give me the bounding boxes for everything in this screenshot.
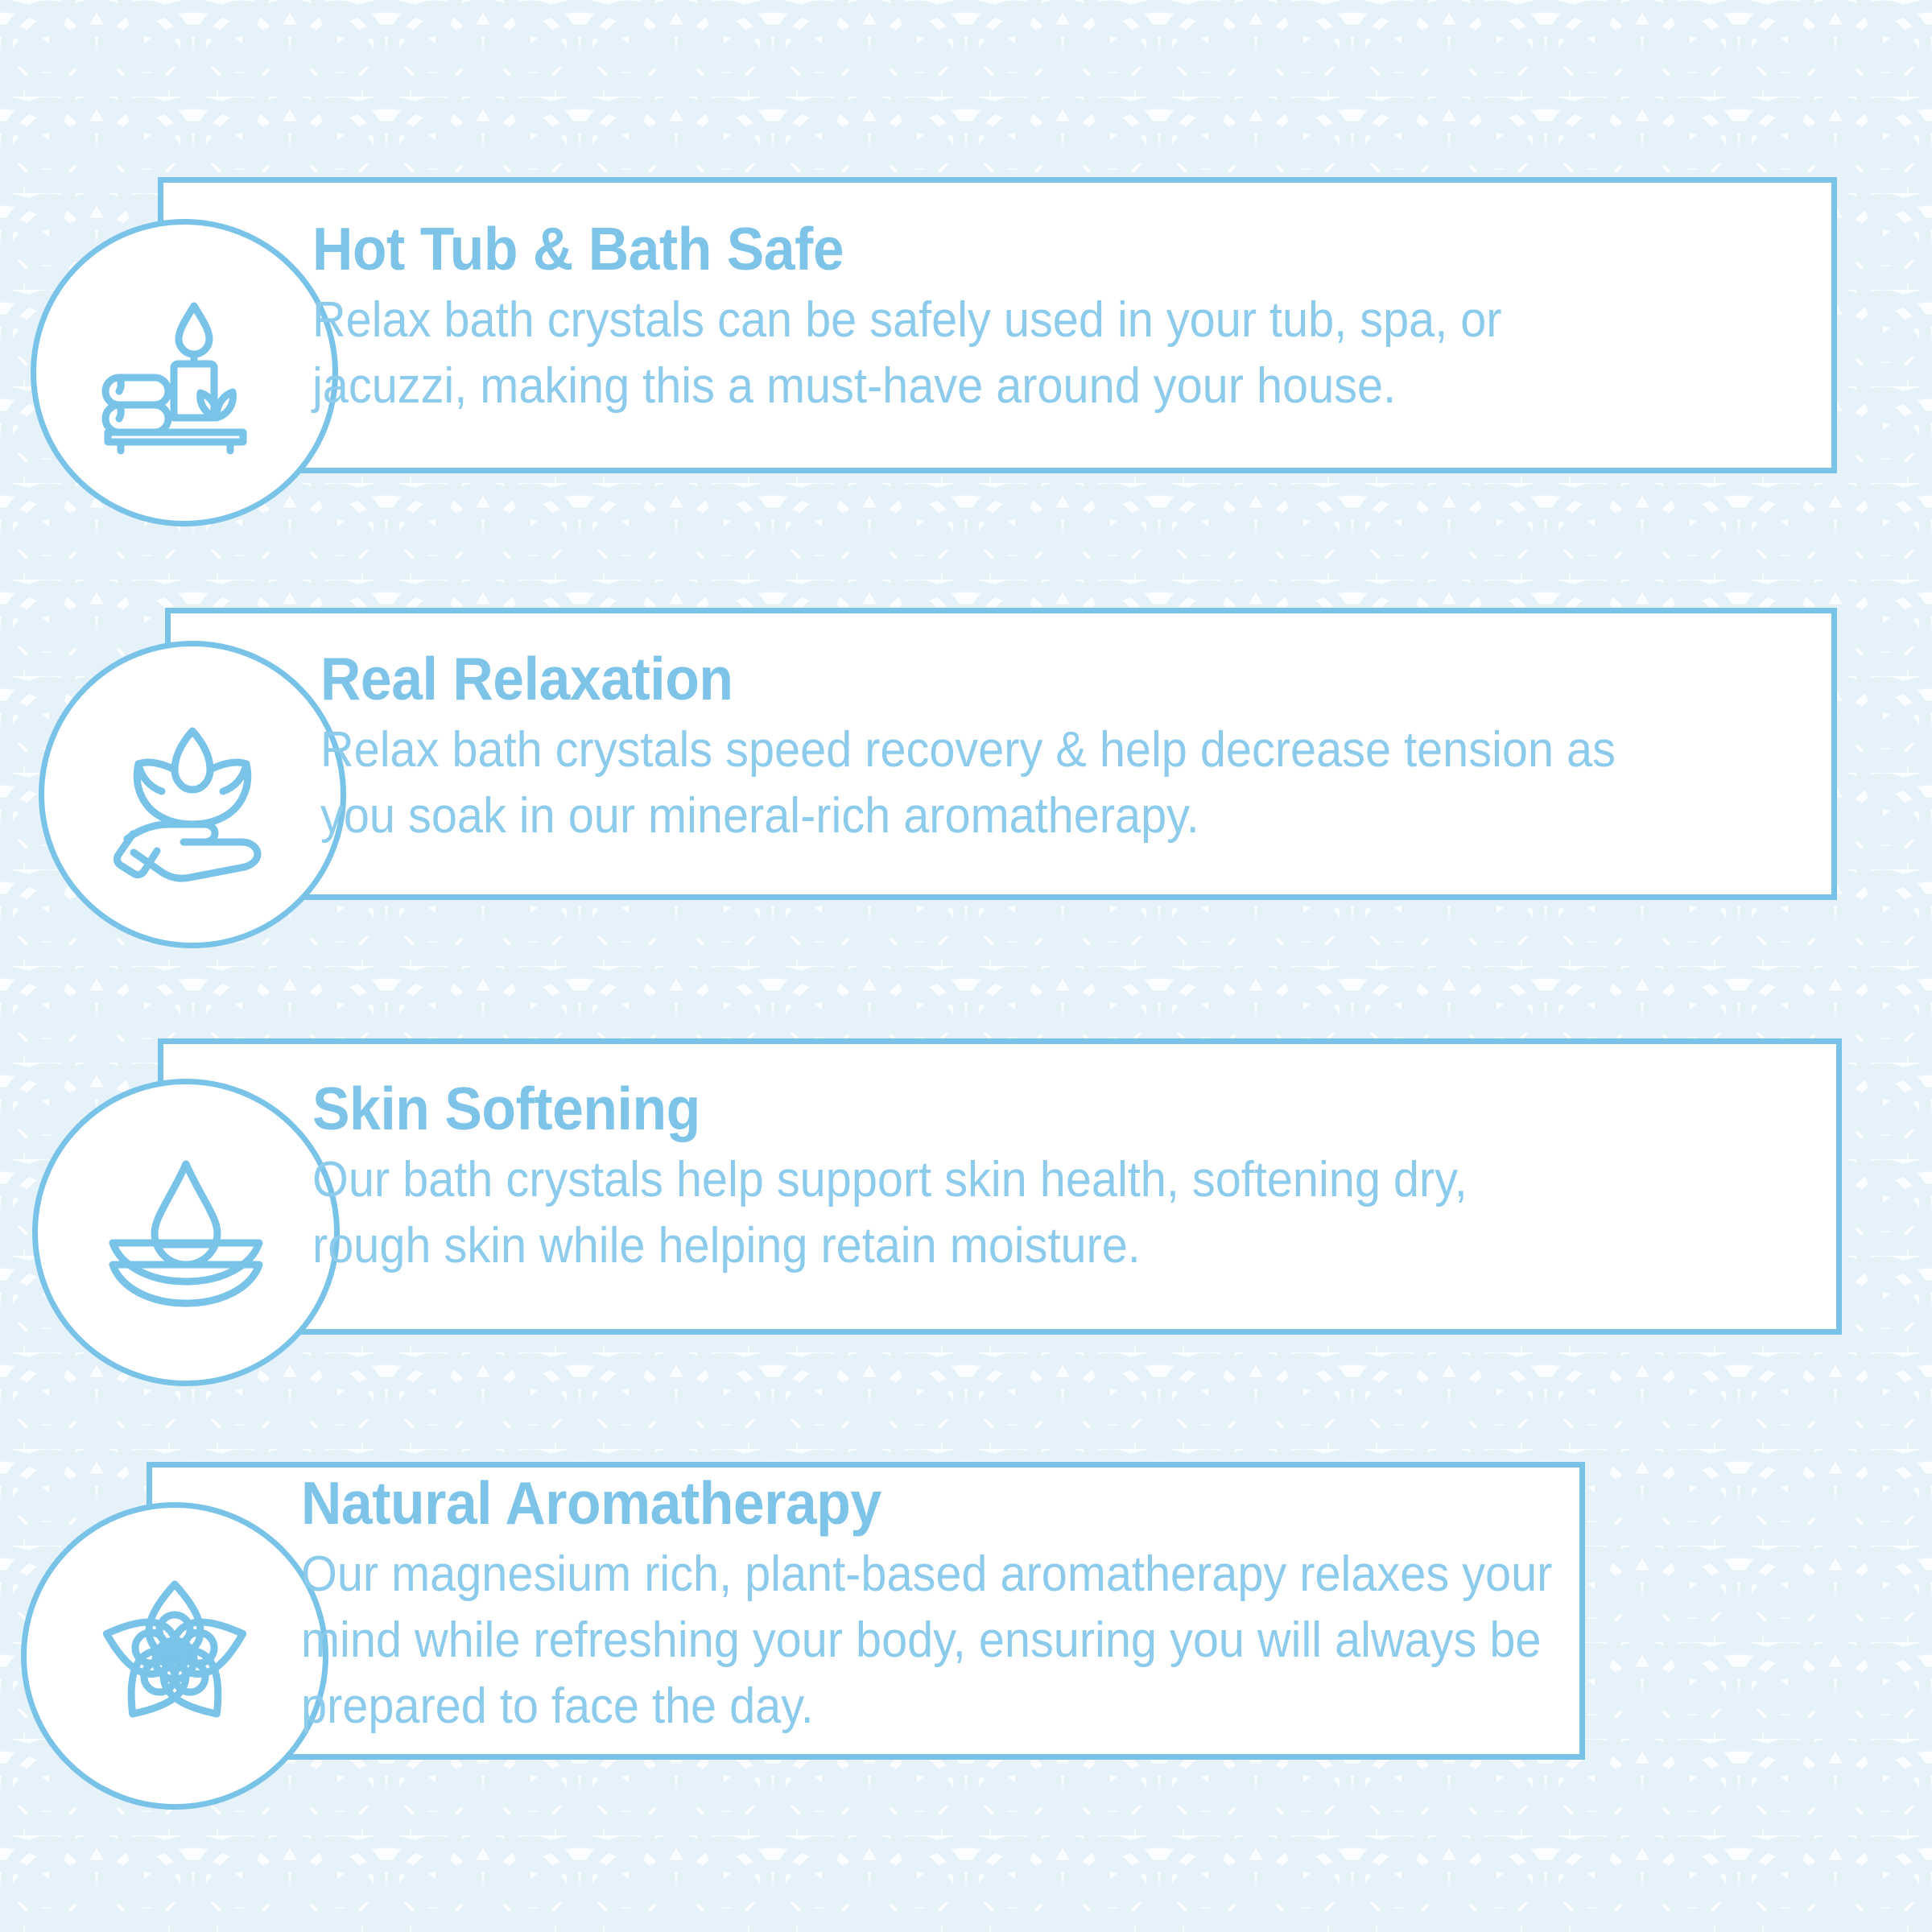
feature-description-line: Relax bath crystals can be safely used i… [312,287,1675,353]
feature-title: Skin Softening [312,1079,1690,1139]
feature-title: Hot Tub & Bath Safe [312,219,1675,279]
feature-text-block: Hot Tub & Bath Safe Relax bath crystals … [312,219,1777,419]
feature-description: Our magnesium rich, plant-based aromathe… [301,1542,1469,1739]
feature-description-line: prepared to face the day. [301,1674,1469,1740]
feature-description: Relax bath crystals can be safely used i… [312,287,1675,419]
flower-blossom-icon [90,1571,259,1740]
feature-description: Our bath crystals help support skin heal… [312,1147,1690,1279]
candle-towels-spa-icon [100,288,269,457]
feature-icon-candle-towels [31,219,338,526]
feature-description-line: mind while refreshing your body, ensurin… [301,1608,1469,1674]
infographic-page: Hot Tub & Bath Safe Relax bath crystals … [0,0,1932,1932]
feature-text-block: Real Relaxation Relax bath crystals spee… [320,649,1794,849]
feature-description-line: you soak in our mineral-rich aromatherap… [320,783,1690,849]
feature-icon-droplet-bowl [32,1079,340,1386]
feature-description: Relax bath crystals speed recovery & hel… [320,717,1690,849]
feature-description-line: rough skin while helping retain moisture… [312,1213,1690,1279]
feature-description-line: Our bath crystals help support skin heal… [312,1147,1690,1213]
feature-description-line: Our magnesium rich, plant-based aromathe… [301,1542,1469,1608]
feature-icon-hand-lotus [39,641,346,948]
hand-holding-lotus-icon [108,710,277,879]
feature-title: Natural Aromatherapy [301,1473,1469,1534]
feature-description-line: jacuzzi, making this a must-have around … [312,353,1675,419]
feature-text-block: Skin Softening Our bath crystals help su… [312,1079,1794,1279]
feature-icon-flower [21,1502,328,1810]
feature-description-line: Relax bath crystals speed recovery & hel… [320,717,1690,783]
water-droplet-bowl-icon [101,1148,270,1317]
feature-title: Real Relaxation [320,649,1690,709]
feature-text-block: Natural Aromatherapy Our magnesium rich,… [301,1473,1557,1739]
feature-list: Hot Tub & Bath Safe Relax bath crystals … [0,0,1932,1932]
